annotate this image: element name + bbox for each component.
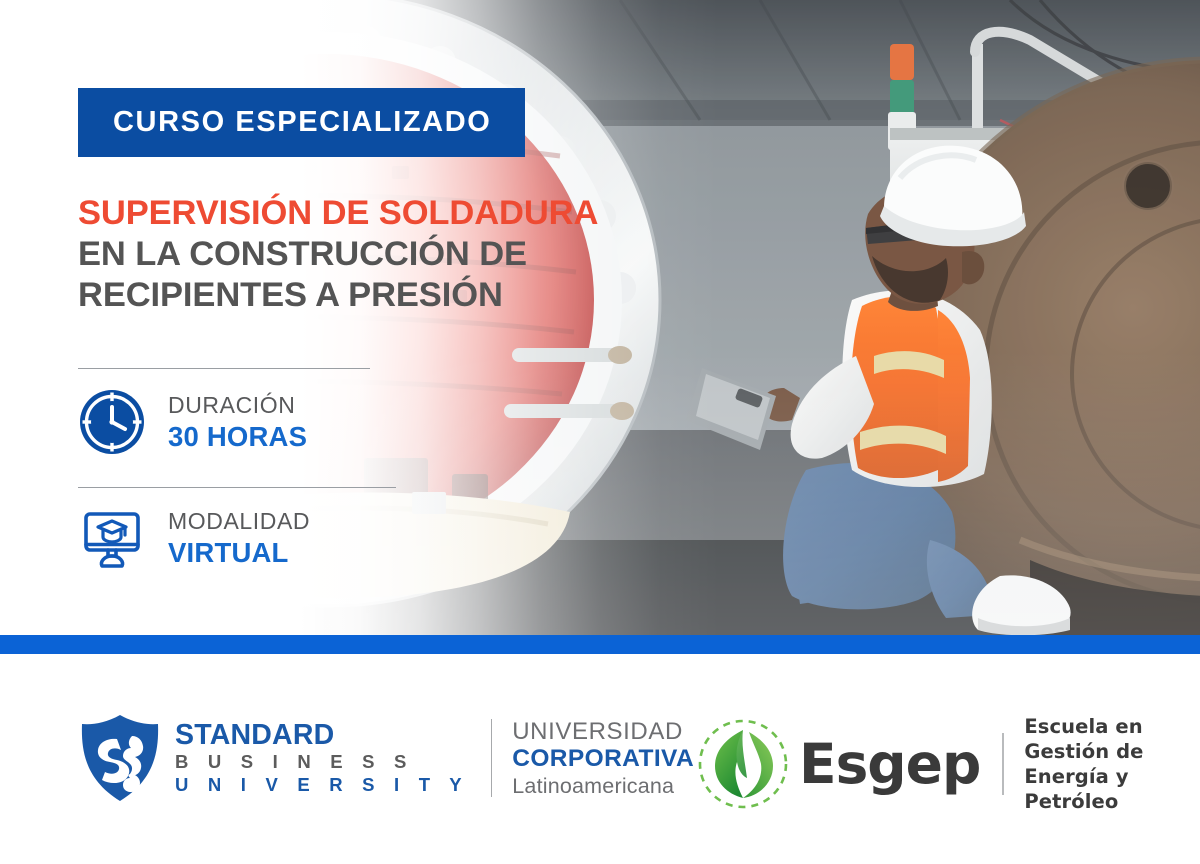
esgep-divider — [1002, 733, 1004, 795]
uc-line-corporativa: CORPORATIVA — [512, 745, 694, 773]
duration-label: DURACIÓN — [168, 392, 307, 419]
esgep-wordmark: Esgep — [799, 735, 980, 793]
banner-content: CURSO ESPECIALIZADO SUPERVISIÓN DE SOLDA… — [0, 0, 1200, 635]
uc-line-latinoamericana: Latinoamericana — [512, 773, 694, 799]
esgep-tagline-line-2: Energía y Petróleo — [1024, 764, 1200, 814]
sbu-wordmark: STANDARD B U S I N E S S U N I V E R S I… — [175, 720, 469, 796]
course-title-line-2: EN LA CONSTRUCCIÓN DE — [78, 234, 598, 275]
clock-icon — [78, 388, 146, 456]
uc-line-universidad: UNIVERSIDAD — [512, 718, 694, 745]
sbu-logo-lockup: STANDARD B U S I N E S S U N I V E R S I… — [78, 712, 694, 804]
sbu-line-university: U N I V E R S I T Y — [175, 773, 469, 796]
course-type-badge: CURSO ESPECIALIZADO — [78, 88, 525, 157]
esgep-tagline-line-1: Escuela en Gestión de — [1024, 714, 1200, 764]
divider-above-modality — [78, 487, 396, 488]
esgep-tagline: Escuela en Gestión de Energía y Petróleo — [1024, 714, 1200, 814]
green-flame-leaf-circle-icon — [697, 718, 789, 810]
sbu-line-business: B U S I N E S S — [175, 750, 469, 773]
duration-info-row: DURACIÓN 30 HORAS — [78, 388, 307, 456]
modality-label: MODALIDAD — [168, 508, 310, 535]
sbu-divider — [491, 719, 493, 797]
divider-above-duration — [78, 368, 370, 369]
sbu-line-standard: STANDARD — [175, 720, 469, 750]
duration-value: 30 HORAS — [168, 421, 307, 452]
universidad-corporativa-wordmark: UNIVERSIDAD CORPORATIVA Latinoamericana — [512, 718, 694, 799]
modality-value: VIRTUAL — [168, 537, 310, 568]
duration-text: DURACIÓN 30 HORAS — [168, 392, 307, 452]
footer-logos: STANDARD B U S I N E S S U N I V E R S I… — [0, 654, 1200, 864]
course-title: SUPERVISIÓN DE SOLDADURA EN LA CONSTRUCC… — [78, 193, 598, 316]
monitor-graduation-cap-icon — [78, 504, 146, 572]
modality-text: MODALIDAD VIRTUAL — [168, 508, 310, 568]
course-title-line-1: SUPERVISIÓN DE SOLDADURA — [78, 193, 598, 234]
modality-info-row: MODALIDAD VIRTUAL — [78, 504, 310, 572]
course-title-line-3: RECIPIENTES A PRESIÓN — [78, 275, 598, 316]
blue-separator-bar — [0, 635, 1200, 654]
esgep-logo-lockup: Esgep Escuela en Gestión de Energía y Pe… — [697, 714, 1200, 814]
shield-lion-icon — [78, 712, 162, 804]
course-promo-banner: CURSO ESPECIALIZADO SUPERVISIÓN DE SOLDA… — [0, 0, 1200, 864]
